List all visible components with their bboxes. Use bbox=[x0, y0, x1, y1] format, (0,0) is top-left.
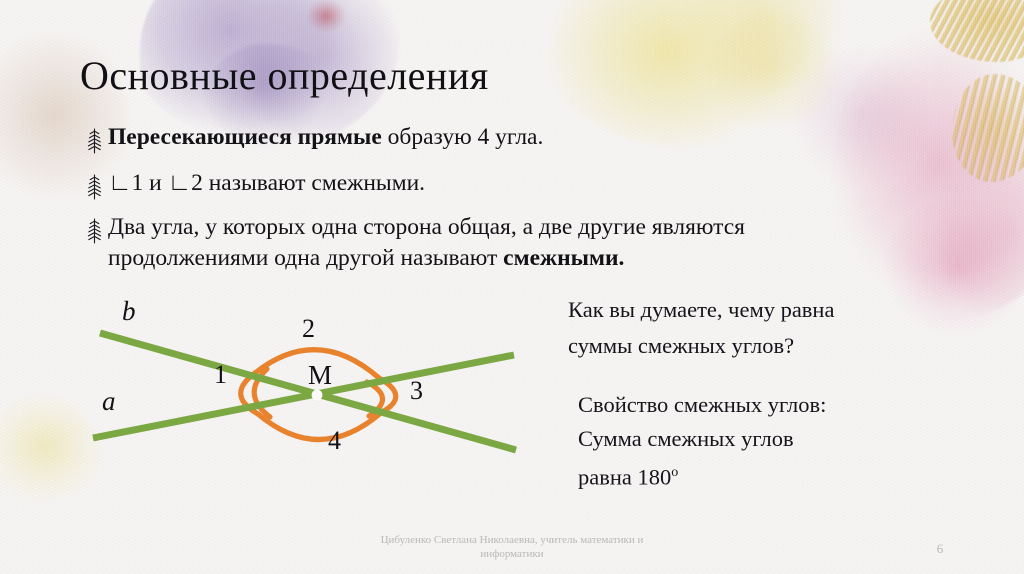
angle-symbol-icon: ∟ bbox=[108, 170, 132, 196]
fern-sprig-bullet-icon bbox=[84, 173, 105, 201]
property-line-2: Сумма смежных углов bbox=[578, 422, 998, 456]
list-item-text: ∟1 и ∟2 называют смежными. bbox=[108, 168, 425, 198]
property-line-1: Свойство смежных углов: bbox=[578, 388, 998, 422]
page-number: 6 bbox=[920, 541, 960, 557]
page-title: Основные определения bbox=[80, 52, 489, 99]
property-block: Свойство смежных углов: Сумма смежных уг… bbox=[578, 388, 998, 495]
question-line-2: суммы смежных углов? bbox=[568, 328, 988, 364]
list-item-line-2-lead: продолжениями одна другой называют bbox=[108, 245, 503, 271]
intersecting-lines-diagram: b a 1 2 3 4 M bbox=[70, 290, 550, 490]
line-label-a: a bbox=[102, 388, 116, 415]
property-line-3-prefix: равна 180 bbox=[578, 465, 671, 490]
vertex-point-m bbox=[312, 390, 323, 401]
fern-sprig-bullet-icon bbox=[84, 217, 105, 245]
slide-canvas: Основные определения bbox=[0, 0, 1024, 574]
list-item-line-1: Два угла, у которых одна сторона общая, … bbox=[108, 214, 745, 240]
angle-label-4: 4 bbox=[328, 428, 341, 454]
question-line-1: Как вы думаете, чему равна bbox=[568, 292, 988, 328]
list-item: ∟1 и ∟2 называют смежными. bbox=[84, 168, 954, 201]
angle-label-1: 1 bbox=[214, 362, 227, 388]
line-a bbox=[93, 355, 514, 438]
list-item-line-2-bold: смежными. bbox=[503, 245, 624, 271]
list-item-rest: называют смежными. bbox=[203, 170, 425, 196]
list-item: Два угла, у которых одна сторона общая, … bbox=[84, 212, 954, 274]
angle-symbol-icon: ∟ bbox=[168, 170, 192, 196]
angle-4-arc bbox=[258, 412, 382, 440]
angle-label-1: 1 bbox=[132, 170, 144, 196]
property-line-3: равна 180о bbox=[578, 456, 998, 495]
list-item: Пересекающиеся прямые образую 4 угла. bbox=[84, 122, 954, 155]
definitions-list: Пересекающиеся прямые образую 4 угла. bbox=[84, 122, 954, 276]
list-item-bold-lead: Пересекающиеся прямые bbox=[108, 124, 382, 150]
footer-line-1: Цибуленко Светлана Николаевна, учитель м… bbox=[0, 533, 1024, 547]
angle-label-3: 3 bbox=[410, 378, 423, 404]
fern-sprig-bullet-icon bbox=[84, 127, 105, 155]
line-label-b: b bbox=[122, 298, 136, 325]
angle-label-2: 2 bbox=[302, 316, 315, 342]
conjunction: и bbox=[143, 170, 167, 196]
question-block: Как вы думаете, чему равна суммы смежных… bbox=[568, 292, 988, 364]
list-item-text: Два угла, у которых одна сторона общая, … bbox=[108, 212, 745, 274]
list-item-text: Пересекающиеся прямые образую 4 угла. bbox=[108, 122, 543, 153]
angle-label-2: 2 bbox=[191, 170, 203, 196]
footer-author-note: Цибуленко Светлана Николаевна, учитель м… bbox=[0, 533, 1024, 561]
footer-line-2: информатики bbox=[0, 547, 1024, 561]
degree-superscript: о bbox=[671, 465, 678, 480]
list-item-rest: образую 4 угла. bbox=[382, 124, 544, 150]
vertex-label-m: M bbox=[308, 362, 332, 389]
